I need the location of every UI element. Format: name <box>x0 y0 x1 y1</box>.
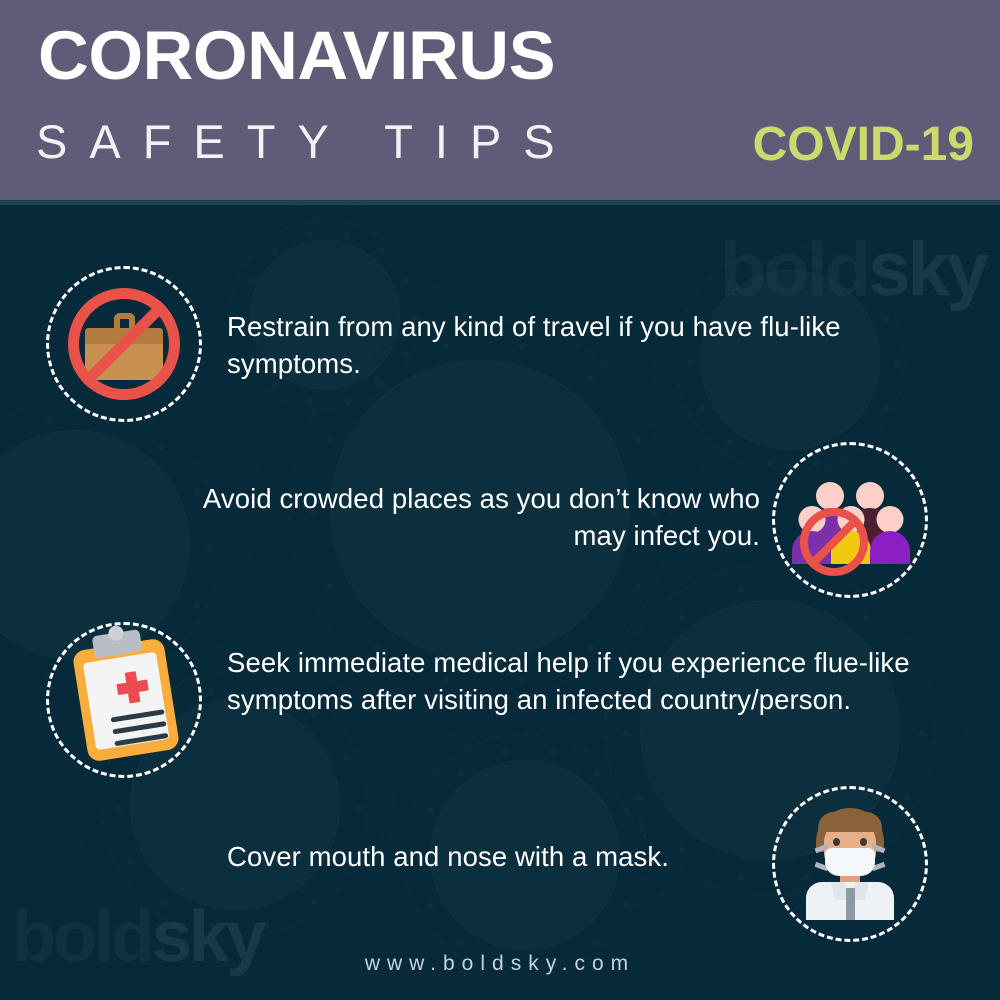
watermark-sky-text: sky <box>868 227 986 312</box>
person-eye <box>860 838 867 846</box>
virus-spike <box>726 440 733 447</box>
virus-spike <box>127 857 134 864</box>
virus-spike <box>623 902 630 909</box>
person-figure <box>870 506 910 564</box>
virus-spike <box>306 398 313 405</box>
virus-spike <box>306 232 313 239</box>
virus-spike <box>326 436 333 443</box>
person-wearing-mask-icon <box>772 786 928 942</box>
virus-spike <box>378 248 385 255</box>
virus-spike <box>593 940 600 947</box>
clipboard-paper <box>83 652 170 750</box>
virus-spike <box>501 749 508 756</box>
virus-spike <box>737 874 744 881</box>
virus-spike <box>402 278 409 285</box>
header-banner: CORONAVIRUS SAFETY TIPS COVID-19 <box>0 0 1000 200</box>
virus-spike <box>698 405 705 412</box>
tip-text-medical: Seek immediate medical help if you exper… <box>227 644 927 718</box>
person-head <box>877 506 904 533</box>
person-hair-fringe <box>818 812 882 832</box>
virus-spike <box>893 360 900 367</box>
virus-spike <box>310 899 317 906</box>
virus-spike <box>634 436 641 443</box>
virus-spike <box>157 443 164 450</box>
page-title: CORONAVIRUS <box>38 18 555 94</box>
clipboard-text-line <box>111 709 165 722</box>
no-crowd-people-icon <box>772 442 928 598</box>
no-travel-briefcase-icon <box>46 266 202 422</box>
footer-website-url: www.boldsky.com <box>0 952 1000 976</box>
virus-spike <box>593 770 600 777</box>
boldsky-watermark-top: boldsky <box>720 226 986 313</box>
clipboard-glyph <box>72 637 180 762</box>
virus-spike <box>457 770 464 777</box>
virus-spike <box>623 808 630 815</box>
necktie <box>846 888 855 920</box>
virus-spike <box>457 940 464 947</box>
tip-text-travel: Restrain from any kind of travel if you … <box>227 308 867 382</box>
virus-spike <box>272 248 279 255</box>
infographic-poster: CORONAVIRUS SAFETY TIPS COVID-19 boldsky… <box>0 0 1000 1000</box>
virus-spike <box>208 688 215 695</box>
medical-clipboard-icon <box>46 622 202 778</box>
header-divider <box>0 200 1000 205</box>
virus-spike <box>344 232 351 239</box>
virus-spike <box>427 902 434 909</box>
person-eye <box>833 838 840 846</box>
virus-spike <box>355 805 362 812</box>
virus-spike <box>343 753 350 760</box>
virus-spike <box>678 614 685 621</box>
virus-spike <box>737 586 744 593</box>
clipboard-text-line <box>112 721 166 734</box>
virus-spike <box>622 730 629 737</box>
masked-person-glyph <box>804 808 896 920</box>
virus-spike <box>193 602 200 609</box>
face-mask <box>825 848 875 876</box>
prohibition-slash <box>807 515 861 569</box>
virus-spike <box>378 382 385 389</box>
virus-spike <box>248 278 255 285</box>
virus-spike <box>634 584 641 591</box>
virus-spike <box>549 749 556 756</box>
virus-spike <box>115 805 122 812</box>
page-subtitle: SAFETY TIPS <box>36 112 577 172</box>
virus-spike <box>882 405 889 412</box>
virus-spike <box>272 382 279 389</box>
virus-spike <box>427 808 434 815</box>
virus-spike <box>918 730 925 737</box>
person-body <box>870 531 910 564</box>
tip-text-mask: Cover mouth and nose with a mask. <box>227 838 787 875</box>
prohibition-sign-icon <box>68 288 180 400</box>
prohibition-sign-icon <box>800 508 868 576</box>
red-cross-icon <box>116 679 148 695</box>
virus-spike <box>344 398 351 405</box>
tip-text-crowd: Avoid crowded places as you don’t know w… <box>170 480 760 554</box>
covid-19-badge: COVID-19 <box>753 118 974 172</box>
virus-spike <box>636 794 643 801</box>
virus-spike <box>862 614 869 621</box>
prohibition-slash <box>81 301 168 388</box>
virus-spike <box>326 584 333 591</box>
virus-spike <box>882 315 889 322</box>
watermark-bold-text: bold <box>720 227 868 312</box>
